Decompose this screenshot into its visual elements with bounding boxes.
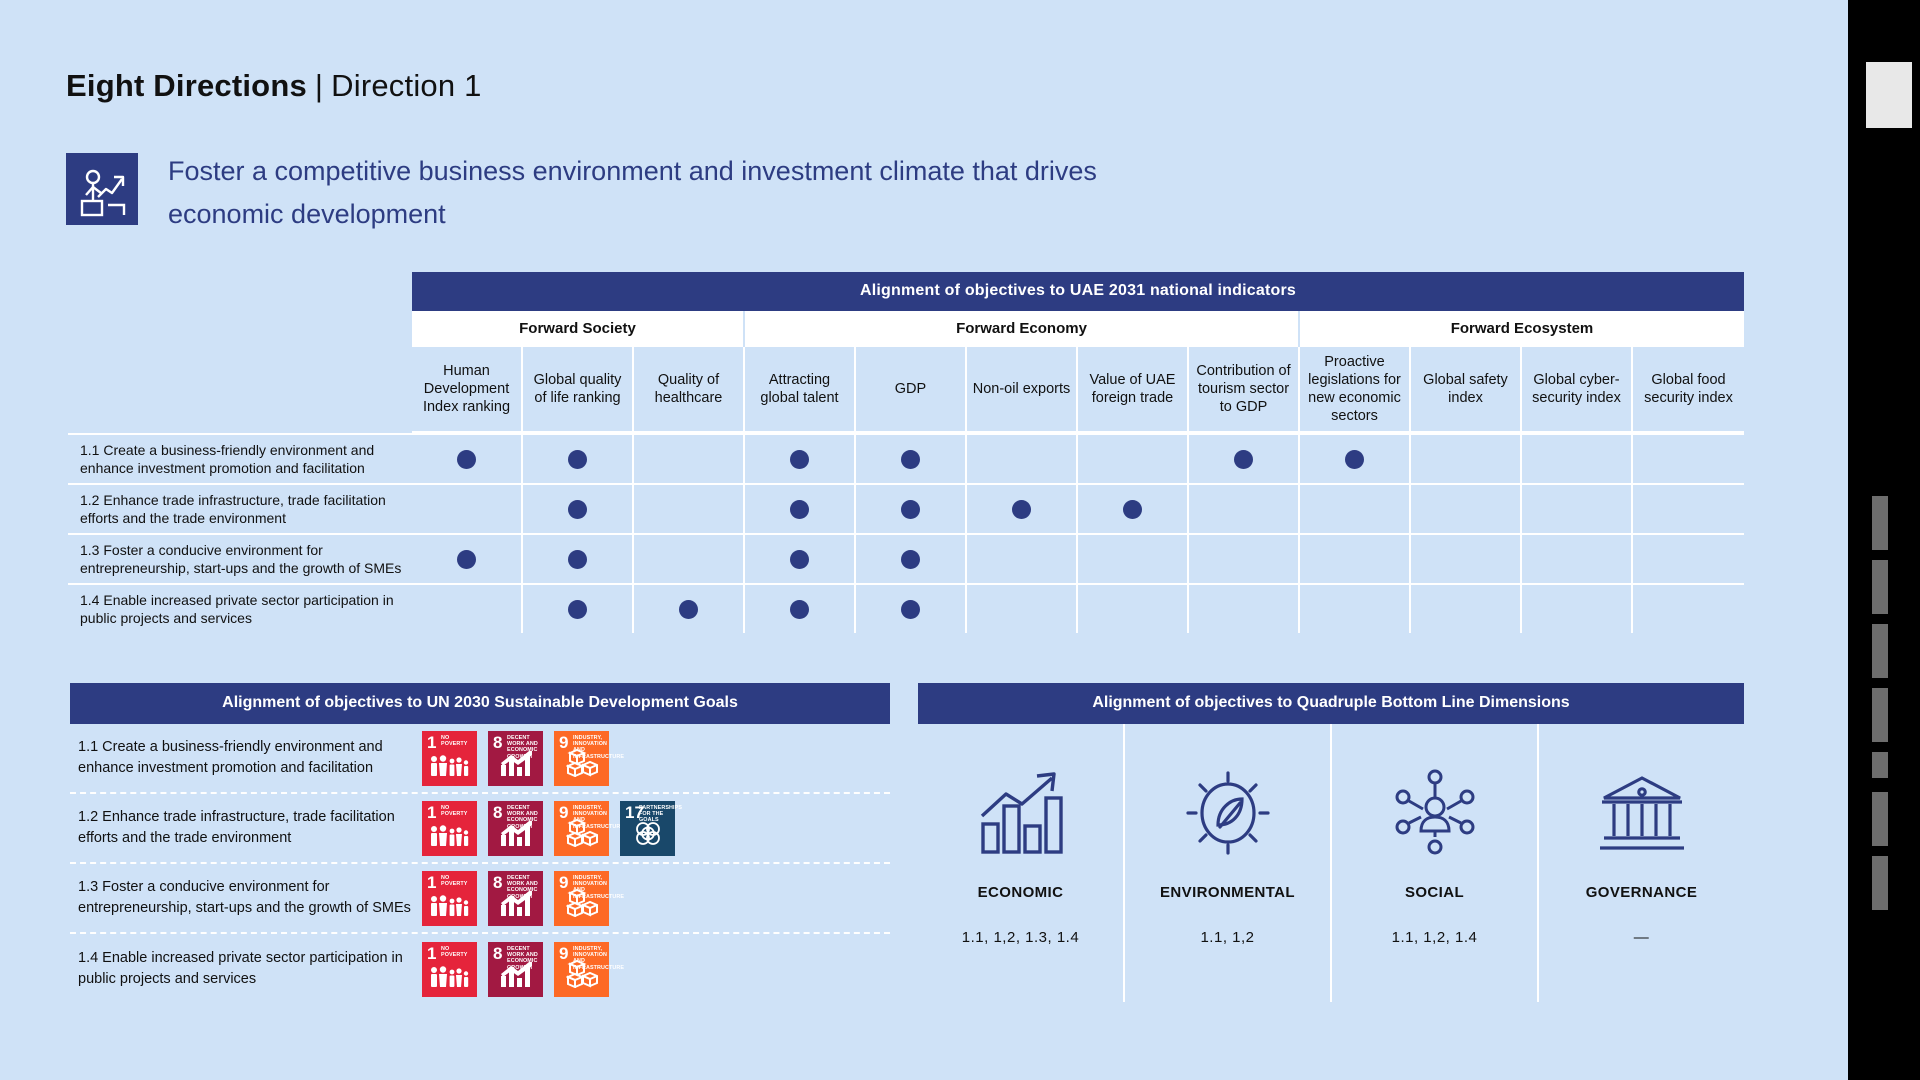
matrix-cell-marked [856,433,967,483]
matrix-cell-marked [1300,433,1411,483]
alignment-dot-icon [1123,500,1142,519]
person-growth-chart-icon [66,153,138,225]
sdg-badge-number: 8 [493,874,502,891]
matrix-cell-marked [967,483,1078,533]
matrix-group-header-row: Forward SocietyForward EconomyForward Ec… [412,311,1744,347]
growth-bars-arrow-icon [488,891,543,922]
matrix-cell-empty [1633,483,1744,533]
sdg-row-label: 1.1 Create a business-friendly environme… [70,737,422,779]
scroll-tick-3 [1872,624,1888,678]
alignment-matrix: Alignment of objectives to UAE 2031 nati… [68,272,1744,633]
matrix-cell-empty [967,583,1078,633]
qbl-panel-title: Alignment of objectives to Quadruple Bot… [918,683,1744,724]
matrix-cell-empty [1411,483,1522,533]
sdg-badge-caption: No poverty [441,805,474,818]
alignment-dot-icon [901,600,920,619]
alignment-dot-icon [568,600,587,619]
sdg-badge-8: 8Decent work and economic growth [488,731,543,786]
growth-bars-arrow-icon [488,962,543,993]
sdg-badge-9: 9Industry, innovation and infrastructure [554,801,609,856]
matrix-cell-empty [1633,533,1744,583]
sdg-badge-caption: No poverty [441,946,474,959]
sun-leaf-icon [1180,754,1276,872]
sdg-rows: 1.1 Create a business-friendly environme… [70,724,890,1004]
matrix-cell-marked [523,533,634,583]
alignment-dot-icon [790,500,809,519]
sdg-badge-1: 1No poverty [422,871,477,926]
matrix-cell-marked [412,433,523,483]
matrix-cell-marked [745,483,856,533]
matrix-row: 1.2 Enhance trade infrastructure, trade … [68,483,1744,533]
family-icon [422,895,477,922]
matrix-cell-marked [856,483,967,533]
matrix-cell-empty [967,533,1078,583]
sdg-badge-number: 1 [427,804,436,821]
direction-statement: Foster a competitive business environmen… [168,150,1168,236]
page-title-bold: Eight Directions [66,68,307,103]
alignment-dot-icon [568,550,587,569]
scroll-tick-2 [1872,560,1888,614]
matrix-cell-marked [1189,433,1300,483]
cubes-icon [554,960,609,993]
matrix-cell-empty [1522,433,1633,483]
matrix-row-label: 1.2 Enhance trade infrastructure, trade … [68,483,412,533]
qbl-dimension-name: ECONOMIC [978,884,1064,901]
matrix-row: 1.1 Create a business-friendly environme… [68,433,1744,483]
matrix-cell-marked [745,583,856,633]
qbl-dimension-name: ENVIRONMENTAL [1160,884,1295,901]
matrix-cell-empty [634,533,745,583]
matrix-cell-empty [1411,583,1522,633]
alignment-dot-icon [790,450,809,469]
sdg-badge-9: 9Industry, innovation and infrastructure [554,871,609,926]
matrix-cell-empty [1411,433,1522,483]
matrix-row-label: 1.1 Create a business-friendly environme… [68,433,412,483]
scroll-tick-7 [1872,856,1888,910]
matrix-cell-empty [1300,533,1411,583]
sdg-row: 1.3 Foster a conducive environment for e… [70,864,890,934]
sdg-badge-9: 9Industry, innovation and infrastructure [554,942,609,997]
alignment-dot-icon [1012,500,1031,519]
matrix-row-label: 1.3 Foster a conducive environment for e… [68,533,412,583]
sdg-badge-8: 8Decent work and economic growth [488,871,543,926]
qbl-dimension-values: — [1634,929,1650,946]
qbl-column-environmental: ENVIRONMENTAL1.1, 1,2 [1125,724,1332,1002]
qbl-dimension-values: 1.1, 1,2, 1.4 [1392,929,1478,946]
sdg-badge-number: 1 [427,945,436,962]
matrix-cell-marked [856,533,967,583]
sdg-badge-group: 1No poverty8Decent work and economic gro… [422,871,609,926]
sdg-row: 1.4 Enable increased private sector part… [70,934,890,1004]
sdg-badge-1: 1No poverty [422,731,477,786]
alignment-dot-icon [790,550,809,569]
alignment-dot-icon [901,450,920,469]
matrix-cell-empty [1522,583,1633,633]
growth-bars-arrow-icon [488,821,543,852]
page-title-separator: | [307,68,331,103]
matrix-cell-marked [856,583,967,633]
family-icon [422,825,477,852]
alignment-dot-icon [1234,450,1253,469]
interlocking-circles-icon [620,819,675,852]
matrix-cell-empty [1078,583,1189,633]
qbl-dimension-name: SOCIAL [1405,884,1464,901]
sdg-badge-number: 8 [493,734,502,751]
cubes-icon [554,889,609,922]
matrix-cell-empty [412,483,523,533]
sdg-panel: Alignment of objectives to UN 2030 Susta… [70,683,890,1004]
matrix-cell-empty [412,583,523,633]
qbl-column-economic: ECONOMIC1.1, 1,2, 1.3, 1.4 [918,724,1125,1002]
network-people-icon [1387,754,1483,872]
qbl-dimension-values: 1.1, 1,2 [1200,929,1254,946]
sdg-row-label: 1.4 Enable increased private sector part… [70,948,422,990]
family-icon [422,966,477,993]
matrix-column-header: Global quality of life ranking [523,347,634,433]
matrix-cell-empty [1189,533,1300,583]
sdg-badge-1: 1No poverty [422,942,477,997]
page-title-light: Direction 1 [331,68,481,103]
matrix-column-header: Contribution of tourism sector to GDP [1189,347,1300,433]
matrix-row: 1.4 Enable increased private sector part… [68,583,1744,633]
matrix-cell-marked [523,483,634,533]
sdg-badge-1: 1No poverty [422,801,477,856]
sdg-row-label: 1.3 Foster a conducive environment for e… [70,877,422,919]
matrix-column-header: Quality of healthcare [634,347,745,433]
page-title: Eight Directions|Direction 1 [66,68,482,104]
window-scrollbar-rail[interactable] [1848,0,1920,1080]
alignment-dot-icon [901,500,920,519]
matrix-cell-marked [745,433,856,483]
alignment-dot-icon [901,550,920,569]
sdg-badge-group: 1No poverty8Decent work and economic gro… [422,942,609,997]
qbl-column-social: SOCIAL1.1, 1,2, 1.4 [1332,724,1539,1002]
matrix-cell-empty [1300,483,1411,533]
matrix-cell-marked [412,533,523,583]
sdg-badge-9: 9Industry, innovation and infrastructure [554,731,609,786]
sdg-row: 1.1 Create a business-friendly environme… [70,724,890,794]
matrix-row-label: 1.4 Enable increased private sector part… [68,583,412,633]
matrix-column-header: Global cyber-security index [1522,347,1633,433]
government-building-icon [1594,754,1690,872]
alignment-dot-icon [790,600,809,619]
scroll-tick-4 [1872,688,1888,742]
bar-chart-growth-icon [974,754,1068,872]
sdg-row: 1.2 Enhance trade infrastructure, trade … [70,794,890,864]
matrix-row: 1.3 Foster a conducive environment for e… [68,533,1744,583]
growth-bars-arrow-icon [488,751,543,782]
matrix-cell-empty [1411,533,1522,583]
matrix-cell-marked [634,583,745,633]
alignment-dot-icon [457,450,476,469]
qbl-dimension-name: GOVERNANCE [1586,884,1698,901]
alignment-dot-icon [568,450,587,469]
qbl-column-governance: GOVERNANCE— [1539,724,1744,1002]
matrix-column-header: Global food security index [1633,347,1744,433]
matrix-cell-empty [1522,533,1633,583]
matrix-corner-spacer [68,347,412,433]
matrix-group-3: Forward Ecosystem [1300,311,1744,347]
matrix-cell-marked [1078,483,1189,533]
matrix-cell-empty [1189,583,1300,633]
sdg-badge-17: 17Partnerships for the goals [620,801,675,856]
matrix-column-header: Non-oil exports [967,347,1078,433]
sdg-badge-number: 1 [427,734,436,751]
matrix-cell-marked [523,433,634,483]
sdg-badge-8: 8Decent work and economic growth [488,801,543,856]
alignment-dot-icon [679,600,698,619]
sdg-panel-title: Alignment of objectives to UN 2030 Susta… [70,683,890,724]
matrix-column-header: GDP [856,347,967,433]
matrix-cell-empty [1078,533,1189,583]
matrix-banner: Alignment of objectives to UAE 2031 nati… [412,272,1744,311]
family-icon [422,755,477,782]
scroll-tick-5 [1872,752,1888,778]
alignment-dot-icon [1345,450,1364,469]
sdg-badge-number: 8 [493,804,502,821]
matrix-cell-empty [1300,583,1411,633]
matrix-cell-empty [1078,433,1189,483]
matrix-cell-marked [523,583,634,633]
matrix-cell-empty [1633,583,1744,633]
slide-canvas: Eight Directions|Direction 1 Foster a co… [0,0,1848,1080]
matrix-cell-marked [745,533,856,583]
matrix-column-header: Global safety index [1411,347,1522,433]
matrix-column-header-row: Human Development Index rankingGlobal qu… [68,347,1744,433]
sdg-badge-number: 1 [427,874,436,891]
cubes-icon [554,819,609,852]
sdg-row-label: 1.2 Enhance trade infrastructure, trade … [70,807,422,849]
matrix-cell-empty [1522,483,1633,533]
qbl-panel: Alignment of objectives to Quadruple Bot… [918,683,1744,1002]
cubes-icon [554,749,609,782]
scrollbar-thumb[interactable] [1866,62,1912,128]
sdg-badge-8: 8Decent work and economic growth [488,942,543,997]
sdg-badge-caption: No poverty [441,735,474,748]
matrix-column-header: Value of UAE foreign trade [1078,347,1189,433]
matrix-column-header: Proactive legislations for new economic … [1300,347,1411,433]
alignment-dot-icon [568,500,587,519]
sdg-badge-caption: No poverty [441,875,474,888]
scroll-tick-1 [1872,496,1888,550]
matrix-cell-empty [634,433,745,483]
matrix-cell-empty [634,483,745,533]
matrix-rows: 1.1 Create a business-friendly environme… [68,433,1744,633]
sdg-badge-group: 1No poverty8Decent work and economic gro… [422,801,675,856]
matrix-column-header: Attracting global talent [745,347,856,433]
matrix-cell-empty [1189,483,1300,533]
matrix-cell-empty [1633,433,1744,483]
qbl-dimension-values: 1.1, 1,2, 1.3, 1.4 [962,929,1079,946]
alignment-dot-icon [457,550,476,569]
scroll-tick-6 [1872,792,1888,846]
matrix-column-header: Human Development Index ranking [412,347,523,433]
qbl-columns: ECONOMIC1.1, 1,2, 1.3, 1.4ENVIRONMENTAL1… [918,724,1744,1002]
sdg-badge-number: 8 [493,945,502,962]
sdg-badge-group: 1No poverty8Decent work and economic gro… [422,731,609,786]
matrix-group-1: Forward Society [412,311,745,347]
matrix-cell-empty [967,433,1078,483]
matrix-group-2: Forward Economy [745,311,1300,347]
